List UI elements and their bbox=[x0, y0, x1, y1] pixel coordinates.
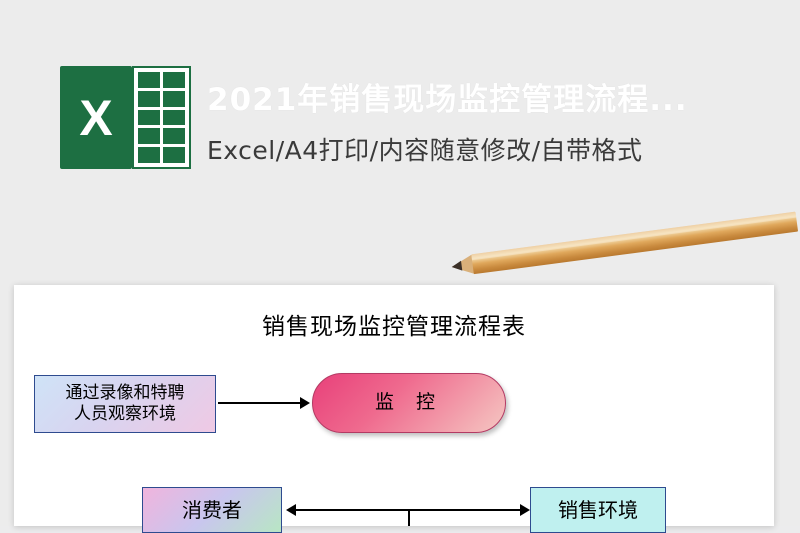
pencil-lead bbox=[451, 261, 462, 272]
flow-box-monitor: 监 控 bbox=[312, 373, 506, 433]
header-banner: X 2021年销售现场监控管理流程... Excel/A4打印/内容随意修改/自… bbox=[0, 0, 800, 272]
arrow-left-head-icon bbox=[286, 504, 296, 516]
excel-logo-grid bbox=[132, 66, 191, 169]
arrow-right-head-icon bbox=[520, 504, 530, 516]
document-preview-sheet: 销售现场监控管理流程表 通过录像和特聘 人员观察环境 监 控 消费者 销售环境 bbox=[14, 285, 774, 526]
flow-box-observe: 通过录像和特聘 人员观察环境 bbox=[34, 375, 216, 433]
flow-box-consumer: 消费者 bbox=[142, 487, 282, 533]
excel-logo-icon: X bbox=[60, 66, 191, 169]
excel-logo-letter: X bbox=[60, 66, 132, 169]
flow-box-observe-line1: 通过录像和特聘 bbox=[66, 383, 185, 403]
page-title: 2021年销售现场监控管理流程... bbox=[207, 74, 688, 119]
flow-box-environment: 销售环境 bbox=[530, 487, 666, 533]
arrow-down-stem bbox=[408, 511, 410, 526]
flow-box-observe-line2: 人员观察环境 bbox=[74, 404, 176, 424]
page-subtitle: Excel/A4打印/内容随意修改/自带格式 bbox=[207, 131, 643, 167]
arrow-observe-to-monitor-head-icon bbox=[300, 397, 310, 409]
page-root: X 2021年销售现场监控管理流程... Excel/A4打印/内容随意修改/自… bbox=[0, 0, 800, 526]
pencil-decoration bbox=[450, 207, 799, 286]
flow-box-observe-label: 通过录像和特聘 人员观察环境 bbox=[66, 383, 185, 426]
flowchart-title: 销售现场监控管理流程表 bbox=[14, 307, 774, 341]
arrow-observe-to-monitor bbox=[218, 402, 302, 404]
